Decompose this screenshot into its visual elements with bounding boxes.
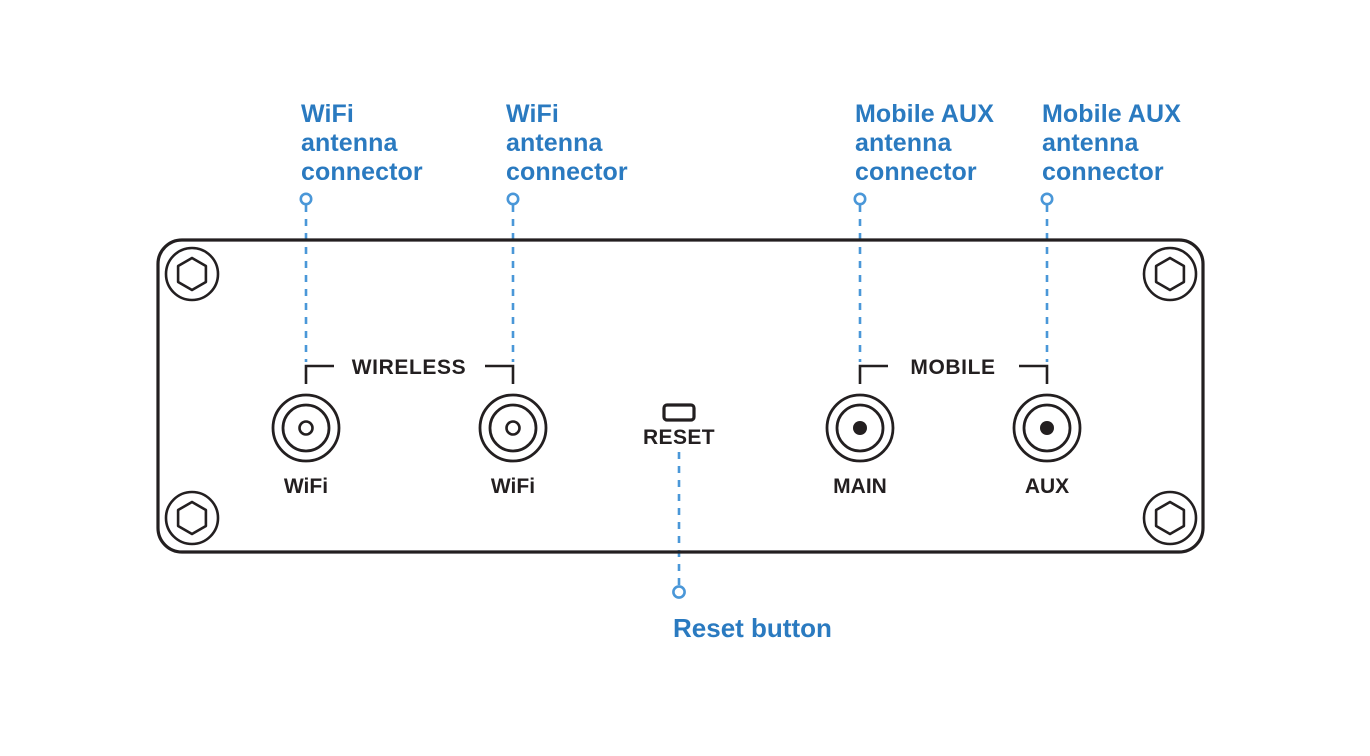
- connector-wifi-right[interactable]: WiFi: [480, 395, 546, 498]
- lead-dot-wifi-left: [301, 194, 311, 204]
- hex-socket-icon: [1156, 502, 1184, 534]
- hex-socket-icon: [1156, 258, 1184, 290]
- diagram-canvas: WiFi antenna connector WiFi antenna conn…: [0, 0, 1370, 756]
- lead-lines-group: [301, 194, 1052, 598]
- port-label-wifi-left: WiFi: [284, 475, 328, 498]
- hex-socket-icon: [178, 502, 206, 534]
- connector-mobile-main[interactable]: MAIN: [827, 395, 893, 498]
- panel-diagram: WiFi antenna connector WiFi antenna conn…: [0, 0, 1370, 756]
- callout-wifi-right: WiFi antenna connector: [506, 100, 628, 186]
- callout-wifi-right-line1: WiFi: [506, 100, 559, 128]
- group-bracket-wireless: WIRELESS: [306, 356, 513, 384]
- connector-mobile-aux[interactable]: AUX: [1014, 395, 1080, 498]
- reset-button[interactable]: RESET: [643, 405, 715, 449]
- callout-reset-button: Reset button: [673, 613, 832, 643]
- callout-mobile-main-line2: antenna: [855, 129, 953, 157]
- callout-wifi-left-line1: WiFi: [301, 100, 354, 128]
- callout-mobile-main-line3: connector: [855, 158, 977, 186]
- lead-dot-reset: [673, 586, 684, 597]
- screw-bottom-right: [1144, 492, 1196, 544]
- hex-socket-icon: [178, 258, 206, 290]
- callout-wifi-left-line2: antenna: [301, 129, 399, 157]
- lead-dot-wifi-right: [508, 194, 518, 204]
- group-label-mobile: MOBILE: [910, 356, 995, 379]
- screw-bottom-left: [166, 492, 218, 544]
- callout-mobile-aux-line1: Mobile AUX: [1042, 100, 1181, 128]
- reset-label: RESET: [643, 426, 715, 449]
- connector-wifi-left[interactable]: WiFi: [273, 395, 339, 498]
- group-label-wireless: WIRELESS: [352, 356, 466, 379]
- lead-dot-mobile-aux: [1042, 194, 1052, 204]
- callout-mobile-aux: Mobile AUX antenna connector: [1042, 100, 1181, 186]
- callout-wifi-left: WiFi antenna connector: [301, 100, 423, 186]
- group-bracket-mobile: MOBILE: [860, 356, 1047, 384]
- reset-hole-icon: [664, 405, 694, 420]
- callout-mobile-aux-line2: antenna: [1042, 129, 1140, 157]
- port-label-mobile-main: MAIN: [833, 475, 887, 498]
- callout-mobile-main: Mobile AUX antenna connector: [855, 100, 994, 186]
- callout-wifi-right-line3: connector: [506, 158, 628, 186]
- screw-top-right: [1144, 248, 1196, 300]
- callout-wifi-left-line3: connector: [301, 158, 423, 186]
- callout-mobile-main-line1: Mobile AUX: [855, 100, 994, 128]
- screw-top-left: [166, 248, 218, 300]
- callout-wifi-right-line2: antenna: [506, 129, 604, 157]
- port-label-wifi-right: WiFi: [491, 475, 535, 498]
- lead-dot-mobile-main: [855, 194, 865, 204]
- callout-mobile-aux-line3: connector: [1042, 158, 1164, 186]
- port-label-mobile-aux: AUX: [1025, 475, 1069, 498]
